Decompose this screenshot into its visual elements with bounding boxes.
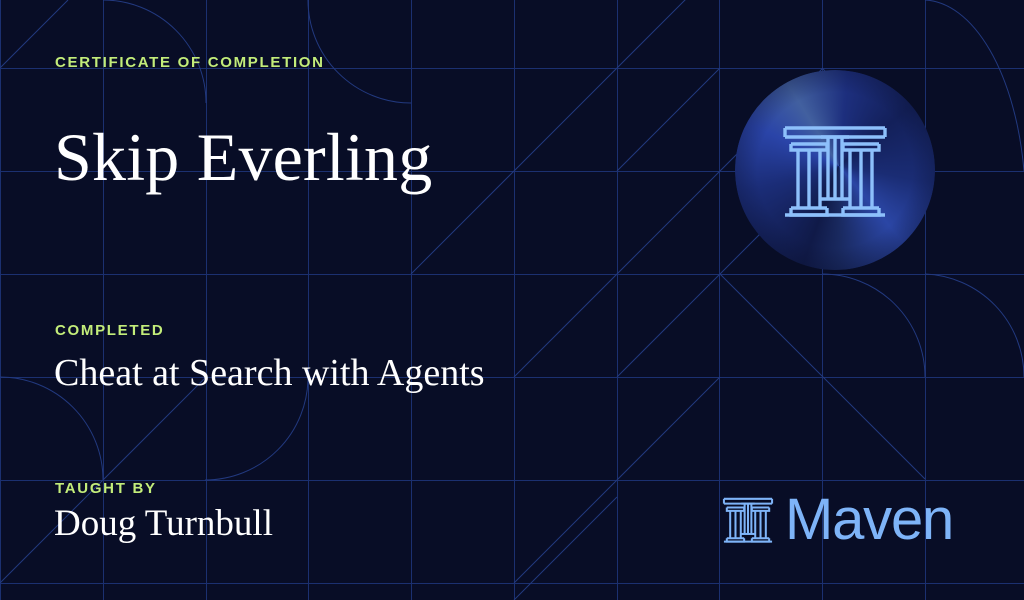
certificate-eyebrow-label: CERTIFICATE OF COMPLETION bbox=[55, 54, 325, 71]
completed-eyebrow-label: COMPLETED bbox=[55, 322, 164, 339]
taught-by-eyebrow-label: TAUGHT BY bbox=[55, 480, 157, 497]
maven-wordmark-text: Maven bbox=[785, 491, 953, 549]
course-title: Cheat at Search with Agents bbox=[54, 354, 485, 392]
maven-badge bbox=[735, 70, 935, 270]
recipient-name: Skip Everling bbox=[54, 123, 432, 191]
maven-wordmark: Maven bbox=[722, 491, 953, 549]
instructor-name: Doug Turnbull bbox=[54, 505, 273, 542]
certificate-card: CERTIFICATE OF COMPLETION Skip Everling … bbox=[0, 0, 1024, 600]
maven-pillars-icon bbox=[722, 491, 774, 549]
maven-pillars-icon bbox=[781, 116, 889, 224]
